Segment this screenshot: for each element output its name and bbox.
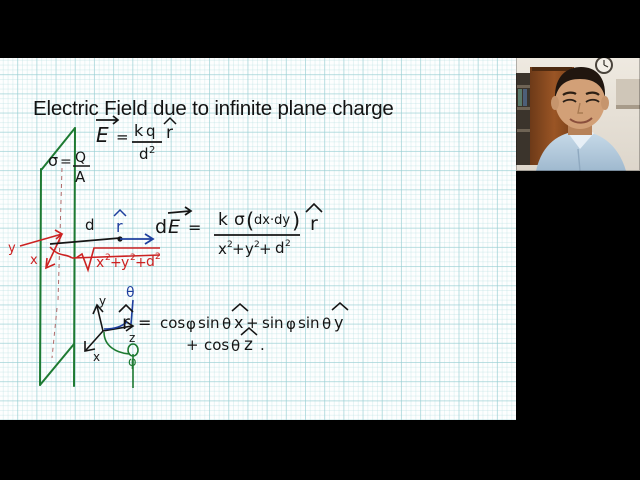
- svg-text:d: d: [146, 254, 155, 270]
- svg-text:dx·dy: dx·dy: [254, 213, 290, 228]
- svg-text:=: =: [60, 154, 72, 170]
- wall-clock-icon: [596, 57, 612, 73]
- svg-text:σ: σ: [234, 210, 245, 230]
- equation-unit-radial-vector: r = cos φ sin θ x + sin φ sin θ y + cos …: [119, 303, 348, 355]
- svg-text:z: z: [129, 331, 135, 345]
- svg-text:q: q: [146, 122, 156, 140]
- svg-text:=: =: [188, 218, 201, 237]
- svg-text:2: 2: [285, 239, 291, 249]
- svg-text:+: +: [135, 255, 147, 271]
- svg-text:x: x: [93, 350, 100, 364]
- svg-text:r: r: [116, 217, 123, 236]
- svg-text:Q: Q: [75, 150, 86, 166]
- svg-text:y: y: [245, 240, 254, 258]
- angle-theta-label: θ: [126, 285, 135, 301]
- svg-text:θ: θ: [322, 315, 331, 333]
- svg-text:x: x: [218, 240, 227, 258]
- svg-text:k: k: [134, 121, 144, 140]
- rhat-label: r: [114, 210, 126, 236]
- svg-text:r: r: [166, 123, 173, 143]
- svg-text:θ: θ: [222, 315, 231, 333]
- svg-text:y: y: [99, 294, 106, 308]
- axis-label-y: y: [8, 241, 16, 256]
- svg-text:φ: φ: [186, 315, 196, 333]
- svg-text:r: r: [310, 213, 318, 235]
- distance-d-label: d: [85, 216, 95, 234]
- svg-text:E: E: [168, 216, 180, 238]
- equation-point-charge-field: E = k q d 2 r: [96, 116, 176, 163]
- svg-text:2: 2: [149, 145, 155, 156]
- svg-text:+: +: [232, 240, 245, 258]
- svg-text:=: =: [116, 128, 129, 146]
- equation-differential-field: d E = k σ ( dx·dy ) x 2 + y 2 + d 2 r: [155, 204, 322, 258]
- svg-text:k: k: [218, 210, 228, 230]
- svg-text:d: d: [275, 239, 285, 257]
- svg-text:z: z: [244, 335, 253, 355]
- svg-text:x: x: [234, 313, 243, 332]
- svg-text:y: y: [334, 313, 343, 332]
- cabinet: [616, 79, 640, 109]
- svg-text:σ: σ: [48, 151, 58, 170]
- svg-text:cos: cos: [160, 314, 185, 332]
- svg-text:): ): [292, 209, 300, 233]
- svg-text:sin: sin: [262, 314, 284, 332]
- surface-charge-density-label: σ = Q A: [48, 150, 90, 186]
- radial-distance-expression: x 2 + y 2 + d 2: [76, 248, 161, 271]
- construction-dashed-line: [52, 168, 62, 358]
- webcam-video: [516, 55, 640, 171]
- axis-label-x: x: [30, 253, 38, 268]
- letterbox-top: [0, 0, 640, 58]
- letterbox-right: [516, 171, 640, 420]
- handwritten-annotation-layer: σ = Q A E = k q d 2 r: [0, 58, 516, 420]
- svg-text:+: +: [186, 336, 199, 354]
- video-frame: Electric Field due to infinite plane cha…: [0, 0, 640, 480]
- svg-text:θ: θ: [231, 337, 240, 355]
- svg-text:d: d: [155, 216, 167, 238]
- svg-text:φ: φ: [286, 315, 296, 333]
- lecture-slide-canvas: Electric Field due to infinite plane cha…: [0, 58, 516, 420]
- svg-text:sin: sin: [198, 314, 220, 332]
- svg-text:y: y: [121, 255, 129, 271]
- svg-text:r: r: [122, 312, 130, 334]
- svg-text:x: x: [96, 255, 104, 271]
- svg-text:cos: cos: [204, 336, 229, 354]
- svg-text:E: E: [96, 123, 109, 147]
- svg-text:2: 2: [155, 252, 161, 262]
- svg-text:+: +: [259, 240, 272, 258]
- svg-text:=: =: [138, 313, 151, 332]
- svg-text:d: d: [139, 145, 149, 163]
- rhat-arrow: [120, 234, 153, 244]
- letterbox-bottom: [0, 420, 640, 480]
- angle-phi-label: φ: [128, 355, 137, 370]
- presenter-webcam-inset[interactable]: [516, 55, 640, 171]
- svg-text:.: .: [260, 336, 265, 354]
- svg-text:A: A: [75, 168, 86, 186]
- svg-text:+: +: [110, 255, 122, 271]
- svg-text:sin: sin: [298, 314, 320, 332]
- svg-text:(: (: [246, 209, 254, 233]
